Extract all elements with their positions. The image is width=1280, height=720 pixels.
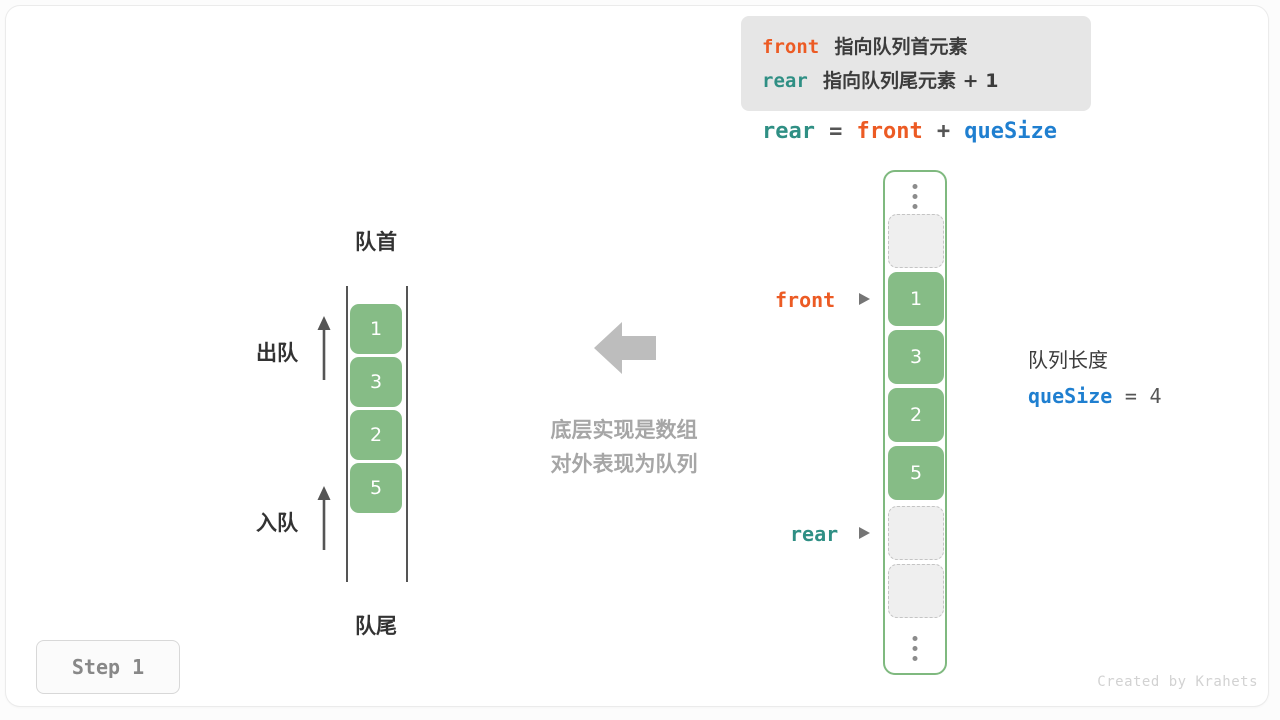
quesize-equals: = bbox=[1125, 384, 1137, 408]
queue-size-note: 队列长度 queSize = 4 bbox=[1028, 342, 1162, 415]
formula-rear: rear bbox=[762, 119, 815, 144]
queue-cell: 2 bbox=[350, 410, 402, 460]
implementation-note-line2: 对外表现为队列 bbox=[528, 447, 720, 481]
legend-line-rear: rear 指向队列尾元素 + 1 bbox=[762, 64, 1091, 98]
formula-equals: = bbox=[829, 119, 842, 144]
rear-keyword: rear bbox=[762, 70, 808, 92]
array-slot-empty bbox=[888, 564, 944, 618]
front-pointer-arrow-icon bbox=[859, 293, 870, 305]
queue-cell: 3 bbox=[350, 357, 402, 407]
front-keyword: front bbox=[762, 36, 819, 58]
array-slot-empty bbox=[888, 506, 944, 560]
vertical-ellipsis-icon-top bbox=[913, 184, 918, 209]
implementation-note-line1: 底层实现是数组 bbox=[528, 413, 720, 447]
left-arrow-icon bbox=[594, 320, 656, 376]
dequeue-label: 出队 bbox=[256, 337, 298, 367]
formula-front: front bbox=[856, 119, 922, 144]
quesize-variable: queSize bbox=[1028, 384, 1112, 408]
array-slot-filled: 5 bbox=[888, 446, 944, 500]
queue-size-expression: queSize = 4 bbox=[1028, 378, 1162, 415]
pointer-legend-box: front 指向队列首元素 rear 指向队列尾元素 + 1 bbox=[741, 16, 1091, 111]
step-badge: Step 1 bbox=[36, 640, 180, 694]
rear-description: 指向队列尾元素 + 1 bbox=[823, 70, 998, 92]
queue-head-label: 队首 bbox=[348, 226, 404, 256]
queue-tail-label: 队尾 bbox=[348, 610, 404, 640]
legend-line-front: front 指向队列首元素 bbox=[762, 30, 1091, 64]
diagram-canvas: front 指向队列首元素 rear 指向队列尾元素 + 1 rear = fr… bbox=[0, 0, 1280, 720]
rear-pointer-label: rear bbox=[790, 522, 838, 546]
queue-cell: 1 bbox=[350, 304, 402, 354]
queue-cell: 5 bbox=[350, 463, 402, 513]
queue-rail-left bbox=[346, 286, 348, 582]
front-description: 指向队列首元素 bbox=[834, 36, 967, 58]
array-slot-filled: 2 bbox=[888, 388, 944, 442]
array-slot-filled: 3 bbox=[888, 330, 944, 384]
array-slot-filled: 1 bbox=[888, 272, 944, 326]
formula-plus: + bbox=[937, 119, 950, 144]
quesize-value: 4 bbox=[1149, 384, 1161, 408]
front-pointer-label: front bbox=[775, 288, 835, 312]
dequeue-arrow-icon bbox=[313, 314, 335, 382]
queue-size-label: 队列长度 bbox=[1028, 342, 1162, 378]
rear-formula: rear = front + queSize bbox=[762, 118, 1057, 144]
enqueue-label: 入队 bbox=[256, 507, 298, 537]
enqueue-arrow-icon bbox=[313, 484, 335, 552]
queue-rail-right bbox=[406, 286, 408, 582]
vertical-ellipsis-icon-bottom bbox=[913, 636, 918, 661]
implementation-note: 底层实现是数组 对外表现为队列 bbox=[528, 413, 720, 481]
rear-pointer-arrow-icon bbox=[859, 527, 870, 539]
formula-quesize: queSize bbox=[964, 119, 1057, 144]
array-slot-empty bbox=[888, 214, 944, 268]
credit-text: Created by Krahets bbox=[1097, 674, 1258, 690]
